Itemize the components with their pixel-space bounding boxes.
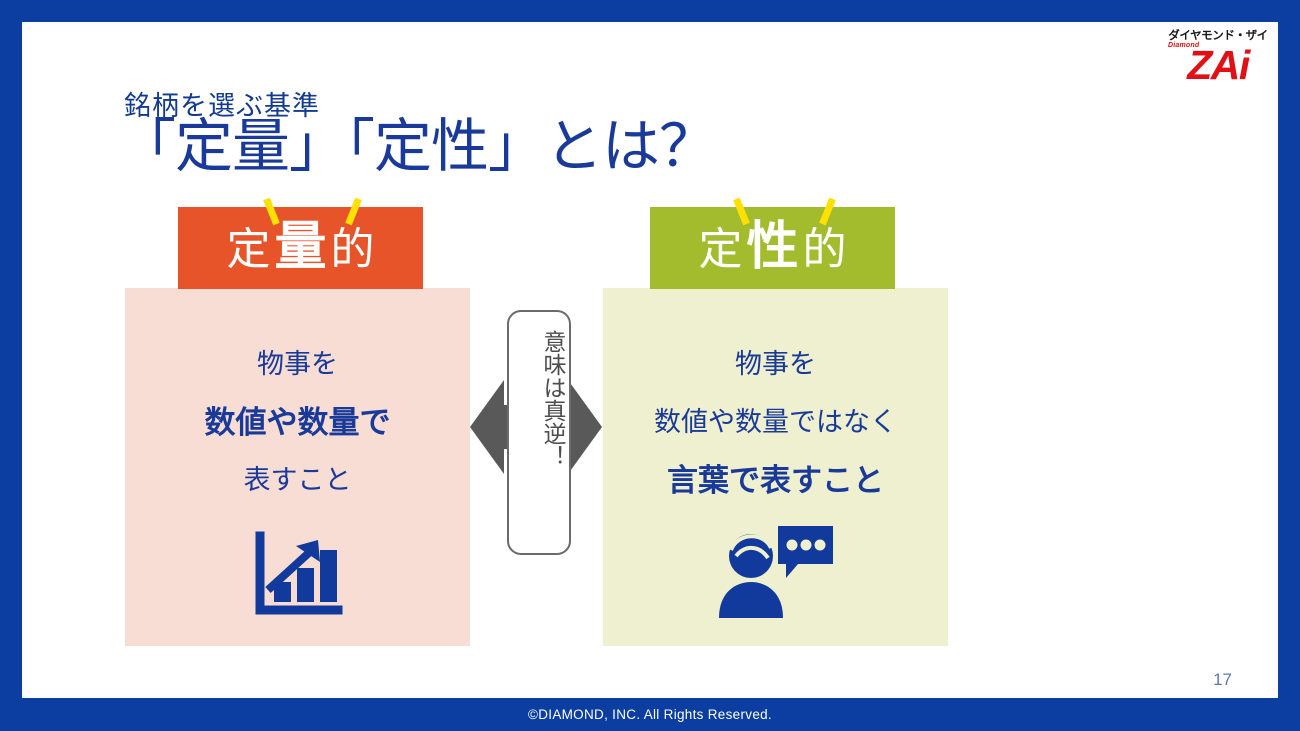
header-quantitative-suffix: 的 xyxy=(331,224,379,275)
header-qualitative: 定性的 xyxy=(650,207,895,289)
panel-quantitative-body: 物事を 数値や数量で 表すこと xyxy=(125,336,470,510)
footer-copyright-text: ©DIAMOND, INC. All Rights Reserved. xyxy=(528,707,772,722)
logo-diamond-text: Diamond xyxy=(1168,42,1199,49)
panel-qualitative: 物事を 数値や数量ではなく 言葉で表すこと xyxy=(603,288,948,646)
panel-quantitative-line-2: 数値や数量で xyxy=(125,394,470,452)
logo-zai-text: ZAi xyxy=(1160,43,1276,87)
opposite-meaning-connector: 意 味 は 真 逆 ！ xyxy=(470,300,610,560)
opposite-meaning-char-1: 意 xyxy=(509,330,569,353)
logo-wordmark: Diamond ZAi xyxy=(1160,43,1276,89)
header-qualitative-suffix: 的 xyxy=(803,224,851,275)
panel-qualitative-line-2: 数値や数量ではなく xyxy=(603,394,948,452)
panel-quantitative-line-3: 表すこと xyxy=(125,452,470,510)
header-qualitative-text: 定性的 xyxy=(694,224,850,273)
opposite-meaning-char-3: は xyxy=(509,376,569,399)
page-number: 17 xyxy=(1213,670,1232,690)
header-quantitative-prefix: 定 xyxy=(226,224,274,275)
opposite-meaning-char-2: 味 xyxy=(509,353,569,376)
header-qualitative-prefix: 定 xyxy=(698,224,746,275)
panel-quantitative: 物事を 数値や数量で 表すこと xyxy=(125,288,470,646)
opposite-meaning-char-4: 真 xyxy=(509,399,569,422)
panel-qualitative-line-3: 言葉で表すこと xyxy=(603,452,948,510)
panel-qualitative-body: 物事を 数値や数量ではなく 言葉で表すこと xyxy=(603,336,948,510)
header-quantitative: 定量的 xyxy=(178,207,423,289)
panel-qualitative-line-1: 物事を xyxy=(603,336,948,394)
page-title: 「定量」「定性」とは？ xyxy=(118,113,716,179)
panel-quantitative-line-1: 物事を xyxy=(125,336,470,394)
opposite-meaning-label: 意 味 は 真 逆 ！ xyxy=(509,330,569,540)
slide-root: ダイヤモンド・ザイ Diamond ZAi 銘柄を選ぶ基準 「定量」「定性」とは… xyxy=(0,0,1300,731)
header-quantitative-text: 定量的 xyxy=(222,224,378,273)
header-quantitative-emphasis: 量 xyxy=(274,217,330,277)
opposite-meaning-box: 意 味 は 真 逆 ！ xyxy=(507,310,571,555)
opposite-meaning-char-5: 逆 xyxy=(509,422,569,445)
opposite-meaning-char-6: ！ xyxy=(509,445,569,468)
person-speech-bubble-icon xyxy=(603,520,948,620)
bar-chart-growth-icon xyxy=(125,530,470,622)
footer-copyright: ©DIAMOND, INC. All Rights Reserved. xyxy=(0,698,1300,731)
header-qualitative-emphasis: 性 xyxy=(746,217,802,277)
zai-logo: ダイヤモンド・ザイ Diamond ZAi xyxy=(1160,30,1276,92)
logo-kana-text: ダイヤモンド・ザイ xyxy=(1160,30,1276,42)
